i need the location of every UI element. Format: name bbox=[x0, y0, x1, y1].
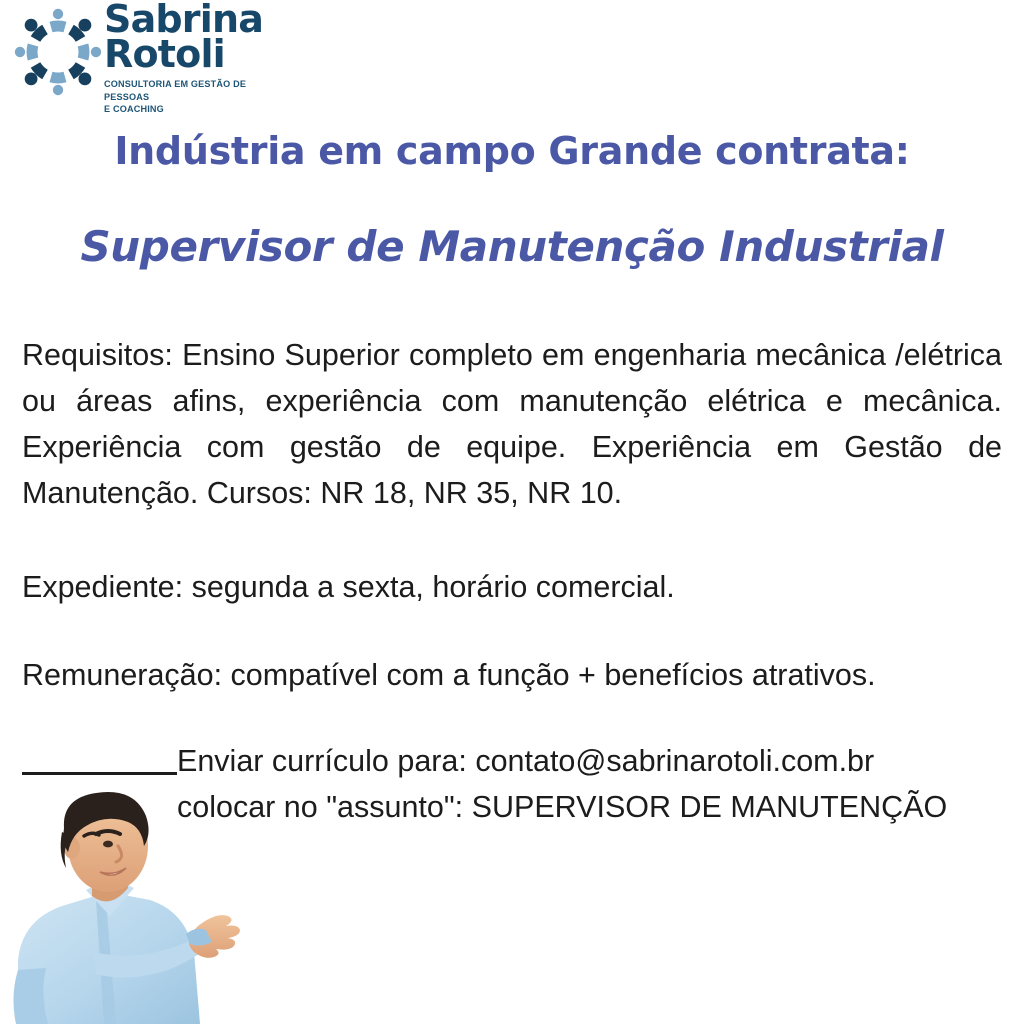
job-details: Requisitos: Ensino Superior completo em … bbox=[22, 332, 1002, 698]
brand-tagline-line-1: CONSULTORIA EM GESTÃO DE PESSOAS bbox=[104, 78, 280, 104]
presenter-photo bbox=[0, 784, 300, 1024]
brand-tagline: CONSULTORIA EM GESTÃO DE PESSOAS E COACH… bbox=[104, 78, 280, 117]
leading-rule bbox=[22, 772, 177, 775]
compensation-paragraph: Remuneração: compatível com a função + b… bbox=[22, 652, 1002, 698]
schedule-paragraph: Expediente: segunda a sexta, horário com… bbox=[22, 564, 1002, 610]
spacer bbox=[22, 610, 1002, 652]
page-title: Indústria em campo Grande contrata: bbox=[0, 129, 1024, 173]
send-resume-line: Enviar currículo para: contato@sabrinaro… bbox=[22, 738, 1012, 784]
send-resume-text: Enviar currículo para: contato@sabrinaro… bbox=[177, 738, 874, 784]
ring-of-people-icon bbox=[12, 6, 104, 98]
spacer bbox=[22, 516, 1002, 564]
requirements-paragraph: Requisitos: Ensino Superior completo em … bbox=[22, 332, 1002, 516]
brand-tagline-line-2: E COACHING bbox=[104, 103, 280, 116]
job-title: Supervisor de Manutenção Industrial bbox=[0, 222, 1024, 271]
brand-wordmark: Sabrina Rotoli CONSULTORIA EM GESTÃO DE … bbox=[104, 2, 280, 116]
brand-name-last: Rotoli bbox=[104, 37, 280, 72]
brand-logo: Sabrina Rotoli CONSULTORIA EM GESTÃO DE … bbox=[8, 2, 280, 102]
